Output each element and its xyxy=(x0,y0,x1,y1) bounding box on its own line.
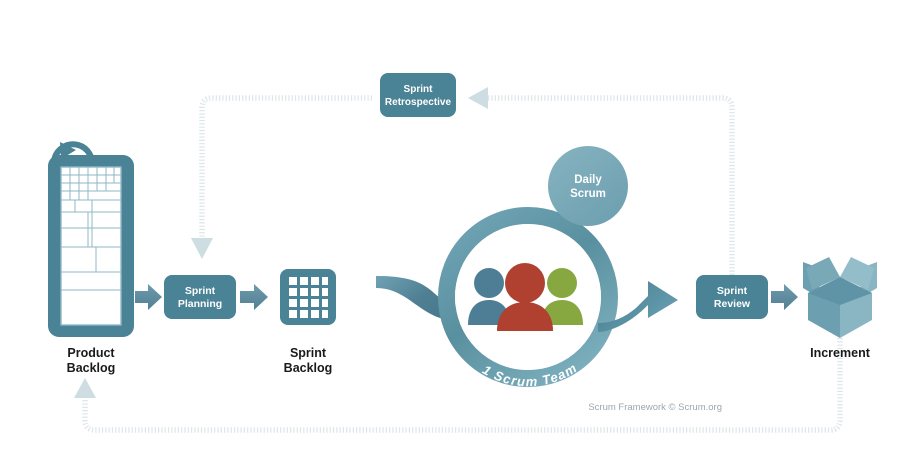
sprint-backlog-caption-line2: Backlog xyxy=(284,361,333,375)
increment-node[interactable]: Increment xyxy=(803,257,877,360)
sprint-backlog-node[interactable]: Sprint Backlog xyxy=(280,269,336,375)
sprint-review-node[interactable]: Sprint Review xyxy=(696,275,768,319)
sprint-review-label-line2: Review xyxy=(714,298,751,310)
sprint-retrospective-label-line2: Retrospective xyxy=(385,97,452,108)
daily-scrum-label-line2: Scrum xyxy=(570,188,606,200)
sprint-review-label-line1: Sprint xyxy=(717,285,748,297)
daily-scrum-label-line1: Daily xyxy=(574,174,602,186)
open-box-icon xyxy=(803,257,877,338)
loop-retrospective-to-planning xyxy=(191,98,372,259)
flow-planning-to-sprint-backlog xyxy=(240,284,268,310)
flow-review-to-increment xyxy=(771,284,798,310)
increment-caption: Increment xyxy=(810,346,871,360)
sprint-retrospective-node[interactable]: Sprint Retrospective xyxy=(380,73,456,117)
scrum-team-members xyxy=(468,263,583,331)
sprint-retrospective-label-line1: Sprint xyxy=(404,84,434,95)
product-backlog-caption-line2: Backlog xyxy=(67,361,116,375)
product-backlog-node[interactable]: Product Backlog xyxy=(48,142,134,375)
sprint-planning-label-line2: Planning xyxy=(178,298,222,310)
attribution-text: Scrum Framework © Scrum.org xyxy=(588,402,722,413)
sprint-backlog-caption-line1: Sprint xyxy=(290,346,327,360)
diagram-canvas: 1 Scrum Team Daily Scrum xyxy=(0,0,897,463)
product-backlog-items xyxy=(61,167,121,325)
daily-scrum-node[interactable]: Daily Scrum xyxy=(548,146,628,226)
sprint-planning-label-line1: Sprint xyxy=(185,285,216,297)
scrum-framework-diagram: 1 Scrum Team Daily Scrum xyxy=(0,0,897,463)
sprint-planning-node[interactable]: Sprint Planning xyxy=(164,275,236,319)
product-backlog-caption-line1: Product xyxy=(67,346,115,360)
flow-backlog-to-planning xyxy=(135,284,162,310)
